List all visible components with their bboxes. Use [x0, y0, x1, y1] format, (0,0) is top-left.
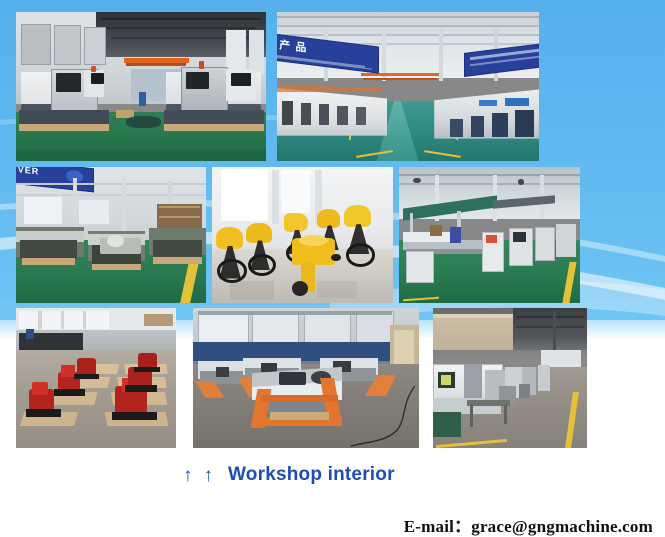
photo-machining-shop-aisle: [433, 308, 587, 448]
caption-workshop-interior: ↑ ↑ Workshop interior: [183, 464, 395, 486]
arrow-up-icon-1: ↑: [183, 466, 193, 485]
caption-text: Workshop interior: [228, 464, 395, 486]
arrow-up-icon-2: ↑: [204, 466, 214, 485]
banner-ver-text: VER: [18, 167, 40, 176]
photo-assembly-line-green-canopy: [399, 167, 580, 303]
slide-canvas: 产 品: [0, 0, 665, 537]
photo-grey-machines-rows: VER: [16, 167, 206, 303]
photo-large-machine-warehouse: 产 品: [277, 12, 539, 161]
photo-yellow-concrete-mixers: [212, 167, 393, 303]
photo-cnc-lathe-assembly-hall: [16, 12, 266, 161]
banner-left-text: 产 品: [279, 37, 307, 56]
contact-email: E-mail：grace@gngmachine.com: [404, 512, 653, 537]
photo-red-machines-on-pallets: [16, 308, 176, 448]
photo-orange-woodworking-machines: [193, 308, 419, 448]
